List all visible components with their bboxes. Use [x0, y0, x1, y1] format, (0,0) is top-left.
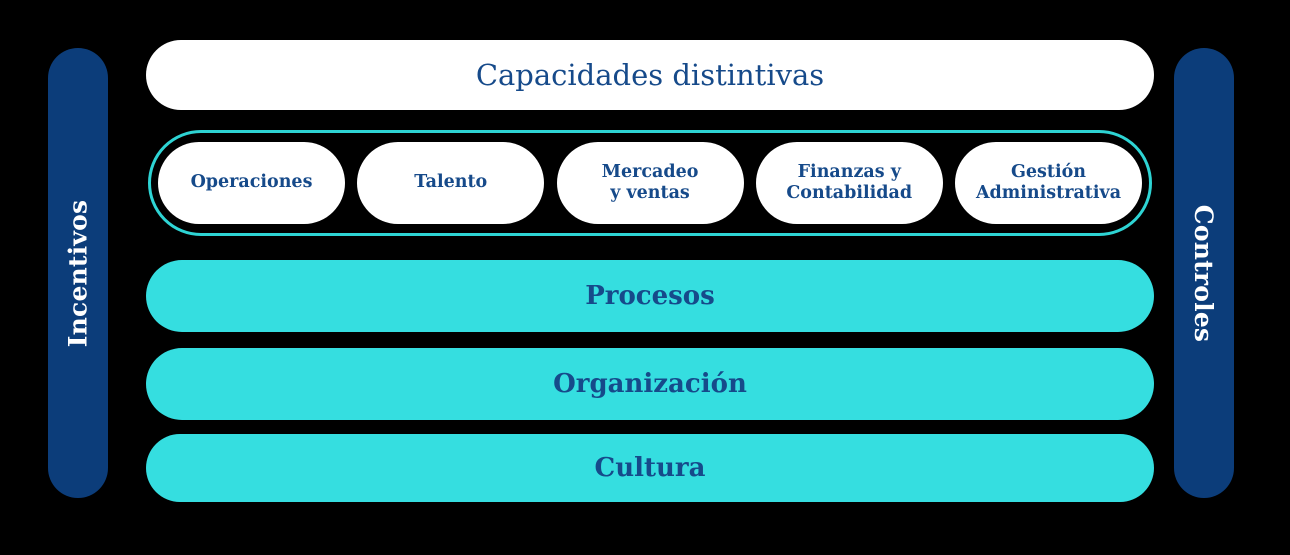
layer-bar-cultura: Cultura — [146, 434, 1154, 502]
side-bar-incentivos-label: Incentivos — [64, 199, 93, 347]
function-pill-3-label: Finanzas yContabilidad — [778, 162, 920, 205]
function-pill-0: Operaciones — [158, 142, 345, 224]
function-pill-4-label: GestiónAdministrativa — [968, 162, 1129, 205]
layer-bar-organizacion-label: Organización — [553, 369, 747, 399]
capabilities-bar: Capacidades distintivas — [146, 40, 1154, 110]
side-bar-controles: Controles — [1174, 48, 1234, 498]
side-bar-incentivos: Incentivos — [48, 48, 108, 498]
side-bar-controles-label: Controles — [1190, 204, 1219, 341]
function-pill-4: GestiónAdministrativa — [955, 142, 1142, 224]
function-pill-2-label: Mercadeoy ventas — [594, 162, 707, 205]
capabilities-bar-label: Capacidades distintivas — [476, 58, 824, 92]
layer-bar-organizacion: Organización — [146, 348, 1154, 420]
layer-bar-procesos-label: Procesos — [585, 281, 715, 311]
function-pill-2: Mercadeoy ventas — [557, 142, 744, 224]
layer-bar-cultura-label: Cultura — [595, 453, 706, 483]
functions-group: Operaciones Talento Mercadeoy ventas Fin… — [148, 130, 1152, 236]
function-pill-3: Finanzas yContabilidad — [756, 142, 943, 224]
function-pill-1: Talento — [357, 142, 544, 224]
diagram-canvas: Incentivos Controles Capacidades distint… — [0, 0, 1290, 555]
layer-bar-procesos: Procesos — [146, 260, 1154, 332]
function-pill-0-label: Operaciones — [183, 172, 321, 193]
function-pill-1-label: Talento — [406, 172, 495, 193]
